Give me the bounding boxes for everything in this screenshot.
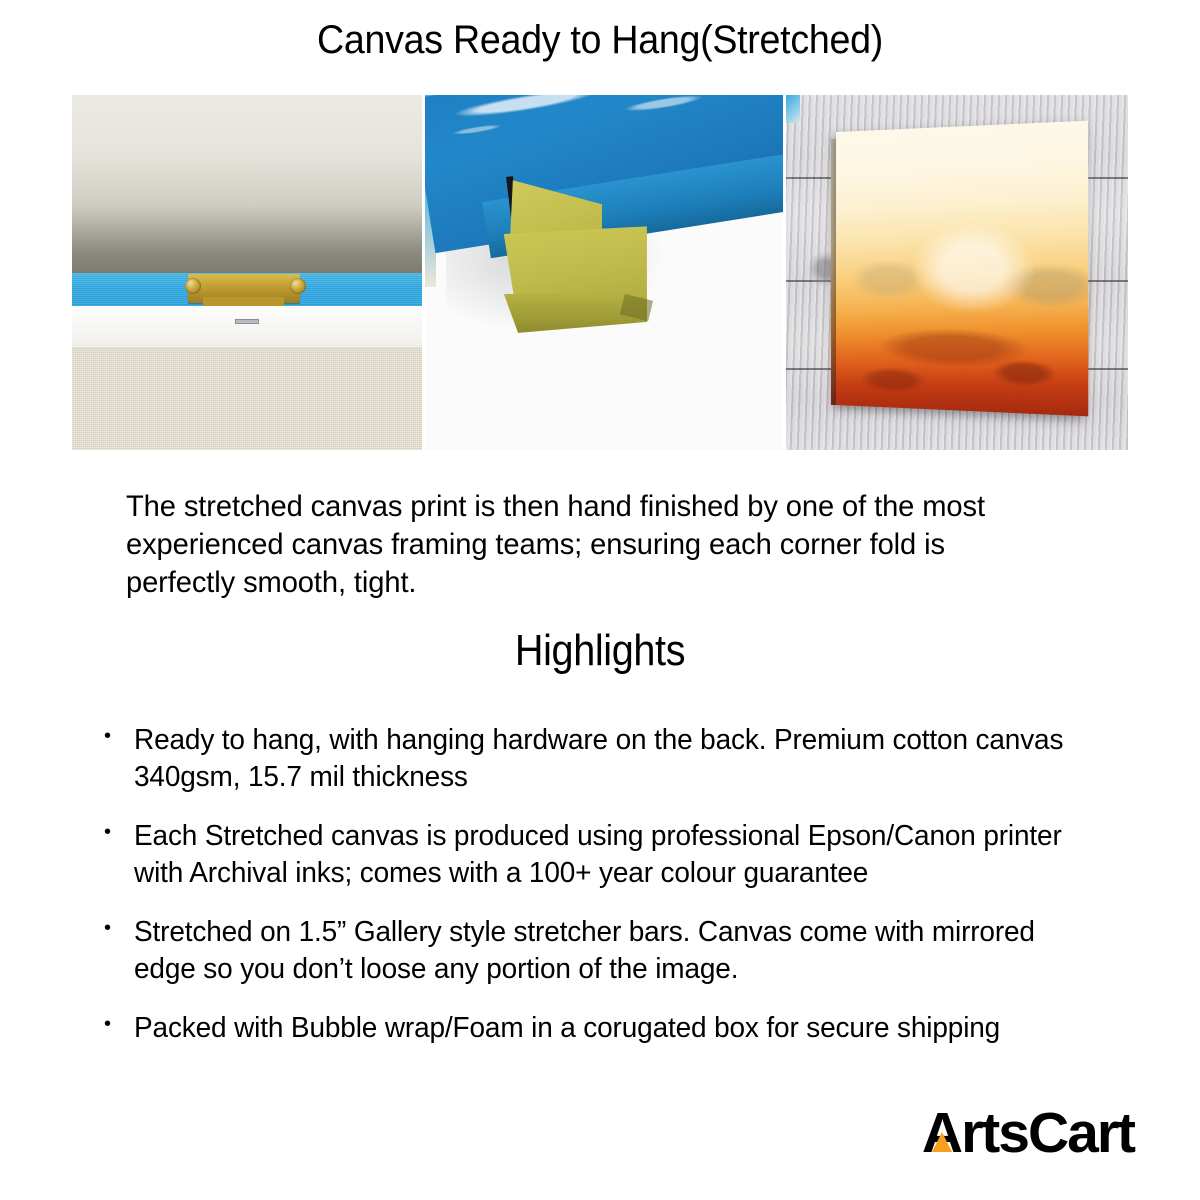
highlights-heading: Highlights (60, 626, 1140, 676)
list-item-label: Stretched on 1.5” Gallery style stretche… (134, 914, 1080, 988)
product-infographic: Canvas Ready to Hang(Stretched) (0, 0, 1200, 1200)
product-image-gallery (72, 95, 1128, 450)
hanger-screw-left-icon (185, 278, 201, 294)
bullet-dot-icon (104, 1010, 134, 1024)
brand-logo-letter-a: A (922, 1105, 961, 1162)
canvas-white-band (72, 306, 422, 352)
brand-logo-text: rtsCart (961, 1105, 1134, 1162)
hanger-screw-right-icon (290, 278, 306, 294)
orange-triangle-icon (932, 1132, 952, 1152)
page-title: Canvas Ready to Hang(Stretched) (36, 18, 1164, 63)
bullet-dot-icon (104, 722, 134, 736)
gallery-image-mounted-canvas-on-wood-wall (786, 95, 1128, 450)
list-item: Stretched on 1.5” Gallery style stretche… (104, 914, 1114, 988)
adjacent-panel-bleed (786, 95, 800, 123)
bullet-dot-icon (104, 914, 134, 928)
raw-canvas-texture (72, 347, 422, 450)
list-item: Each Stretched canvas is produced using … (104, 818, 1114, 892)
list-item: Packed with Bubble wrap/Foam in a coruga… (104, 1010, 1114, 1047)
intro-paragraph: The stretched canvas print is then hand … (126, 488, 1057, 602)
list-item-label: Each Stretched canvas is produced using … (134, 818, 1080, 892)
list-item-label: Packed with Bubble wrap/Foam in a coruga… (134, 1010, 1080, 1047)
sawtooth-hanger-icon (188, 274, 300, 303)
list-item-label: Ready to hang, with hanging hardware on … (134, 722, 1080, 796)
sunset-landscape-print (836, 121, 1089, 417)
staple-icon (235, 319, 260, 325)
bullet-dot-icon (104, 818, 134, 832)
gallery-image-canvas-back-hanging-hardware (72, 95, 422, 450)
highlights-list: Ready to hang, with hanging hardware on … (104, 722, 1114, 1069)
gallery-image-corner-fold-closeup (425, 95, 783, 450)
list-item: Ready to hang, with hanging hardware on … (104, 722, 1114, 796)
brand-logo: A rtsCart (922, 1105, 1134, 1162)
wall-backdrop (72, 95, 422, 273)
